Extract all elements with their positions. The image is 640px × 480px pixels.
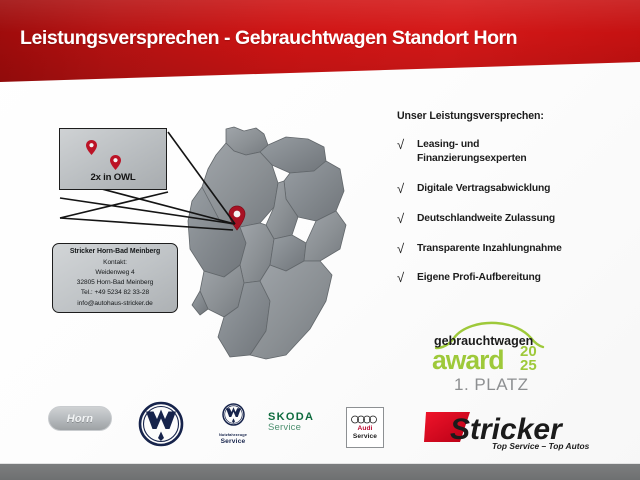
check-icon: √ — [397, 138, 408, 152]
audi-service-logo: Audi Service — [346, 407, 384, 448]
address-contact-label: Kontakt: — [103, 258, 127, 268]
award-rank: 1. PLATZ — [454, 375, 529, 394]
promise-item-label: Leasing- und Finanzierungsexperten — [417, 138, 527, 166]
promise-item: √ Deutschlandweite Zulassung — [397, 212, 632, 226]
slide-root: Leistungsversprechen - Gebrauchtwagen St… — [0, 0, 640, 480]
address-phone[interactable]: Tel.: +49 5234 82 33-28 — [81, 288, 149, 298]
award-year-bottom: 25 — [520, 357, 537, 374]
promise-item: √ Eigene Profi-Aufbereitung — [397, 271, 632, 285]
brand-logo-bar: Horn Nutzfahrzeuge Service SKODA Service — [0, 400, 640, 458]
promise-item-label: Digitale Vertragsabwicklung — [417, 182, 550, 196]
address-street: Weidenweg 4 — [95, 268, 134, 278]
address-city: 32805 Horn-Bad Meinberg — [77, 278, 154, 288]
owl-callout-label: 2x in OWL — [60, 172, 166, 183]
award-word-main: award — [432, 345, 504, 375]
stricker-tagline: Top Service – Top Autos — [492, 441, 590, 451]
vw-nutzfahrzeuge-logo: Nutzfahrzeuge Service — [204, 403, 262, 445]
stricker-logo: Stricker Top Service – Top Autos — [424, 403, 624, 453]
address-name: Stricker Horn-Bad Meinberg — [70, 247, 160, 258]
page-title: Leistungsversprechen - Gebrauchtwagen St… — [20, 27, 517, 50]
check-icon: √ — [397, 212, 408, 226]
check-icon: √ — [397, 182, 408, 196]
owl-callout-box: 2x in OWL — [59, 128, 167, 190]
promise-item-label: Transparente Inzahlungnahme — [417, 242, 562, 256]
vw-nutzfahrzeuge-icon — [222, 403, 245, 426]
vw-logo-icon — [138, 401, 184, 452]
address-email[interactable]: info@autohaus-stricker.de — [77, 299, 152, 309]
promise-item-line2: Finanzierungsexperten — [417, 153, 527, 164]
promise-item: √ Transparente Inzahlungnahme — [397, 242, 632, 256]
promise-list: Unser Leistungsversprechen: √ Leasing- u… — [397, 110, 632, 301]
bottom-gray-bar — [0, 463, 640, 480]
check-icon: √ — [397, 242, 408, 256]
audi-rings-icon — [351, 415, 379, 424]
audi-wordmark: Audi — [357, 425, 372, 432]
germany-map — [168, 125, 368, 395]
address-card: Stricker Horn-Bad Meinberg Kontakt: Weid… — [52, 243, 178, 313]
map-pin-icon — [110, 155, 121, 170]
audi-service-label: Service — [353, 433, 377, 440]
promise-item: √ Digitale Vertragsabwicklung — [397, 182, 632, 196]
skoda-service-label: Service — [268, 422, 314, 433]
horn-badge-label: Horn — [67, 413, 93, 425]
vw-nutzfahrzeuge-line1: Nutzfahrzeuge — [204, 432, 262, 437]
award-badge: gebrauchtwagen award 20 25 1. PLATZ — [428, 318, 548, 396]
map-pin-icon — [86, 140, 97, 155]
horn-badge: Horn — [48, 406, 112, 431]
promise-item-line1: Leasing- und — [417, 139, 479, 150]
vw-nutzfahrzeuge-line2: Service — [204, 438, 262, 445]
promise-list-title: Unser Leistungsversprechen: — [397, 110, 632, 122]
promise-item: √ Leasing- und Finanzierungsexperten — [397, 138, 632, 166]
promise-item-label: Eigene Profi-Aufbereitung — [417, 271, 541, 285]
promise-item-label: Deutschlandweite Zulassung — [417, 212, 555, 226]
skoda-service-logo: SKODA Service — [268, 411, 314, 433]
check-icon: √ — [397, 271, 408, 285]
